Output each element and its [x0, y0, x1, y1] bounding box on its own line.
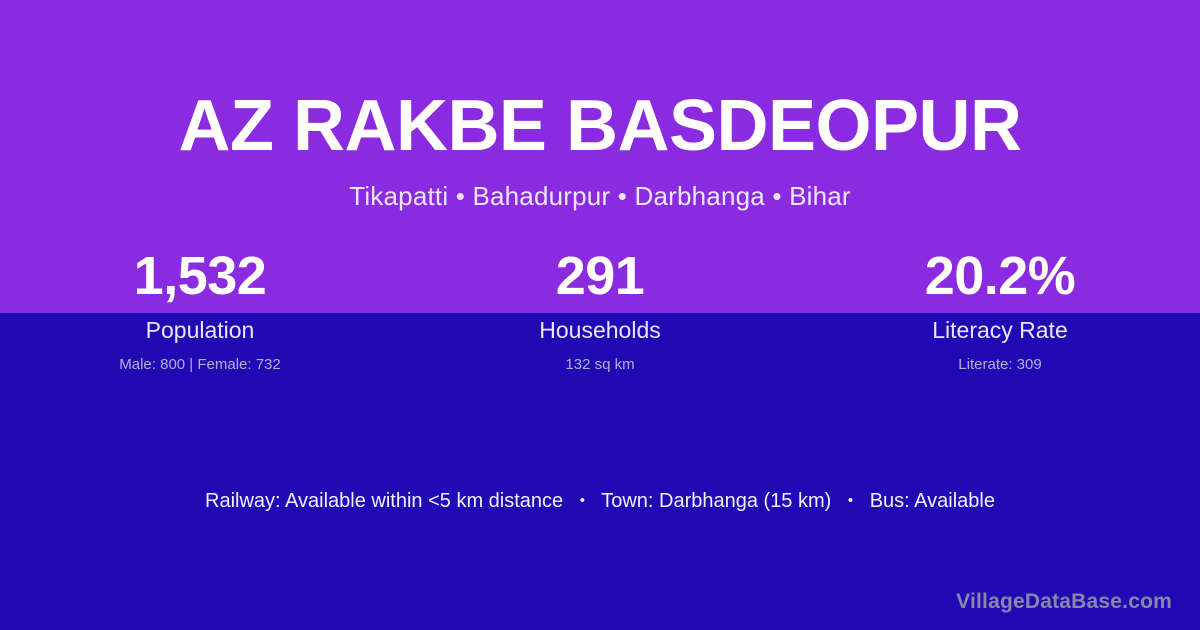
stat-subcaption: Male: 800 | Female: 732 [0, 355, 400, 375]
infra-item-railway: Railway: Available within <5 km distance [205, 490, 563, 512]
stat-label: Population [0, 315, 400, 345]
bullet-separator-icon: • [837, 492, 864, 509]
infra-item-bus: Bus: Available [870, 490, 995, 512]
infra-item-town: Town: Darbhanga (15 km) [601, 490, 831, 512]
stat-literacy-rate: 20.2% Literacy Rate Literate: 309 [800, 248, 1200, 375]
page-title: AZ RAKBE BASDEOPUR [0, 90, 1200, 162]
stat-label: Literacy Rate [800, 315, 1200, 345]
footer-brand-watermark: VillageDataBase.com [956, 588, 1172, 616]
stat-value: 291 [400, 248, 800, 306]
stat-label: Households [400, 315, 800, 345]
stats-row: 1,532 Population Male: 800 | Female: 732… [0, 248, 1200, 375]
stat-value: 1,532 [0, 248, 400, 306]
stat-value: 20.2% [800, 248, 1200, 306]
stat-population: 1,532 Population Male: 800 | Female: 732 [0, 248, 400, 375]
bullet-separator-icon: • [569, 492, 596, 509]
breadcrumb: Tikapatti • Bahadurpur • Darbhanga • Bih… [0, 183, 1200, 209]
stat-subcaption: Literate: 309 [800, 355, 1200, 375]
village-info-card: AZ RAKBE BASDEOPUR Tikapatti • Bahadurpu… [0, 0, 1200, 630]
stat-subcaption: 132 sq km [400, 355, 800, 375]
stat-households: 291 Households 132 sq km [400, 248, 800, 375]
infrastructure-line: Railway: Available within <5 km distance… [0, 487, 1200, 515]
